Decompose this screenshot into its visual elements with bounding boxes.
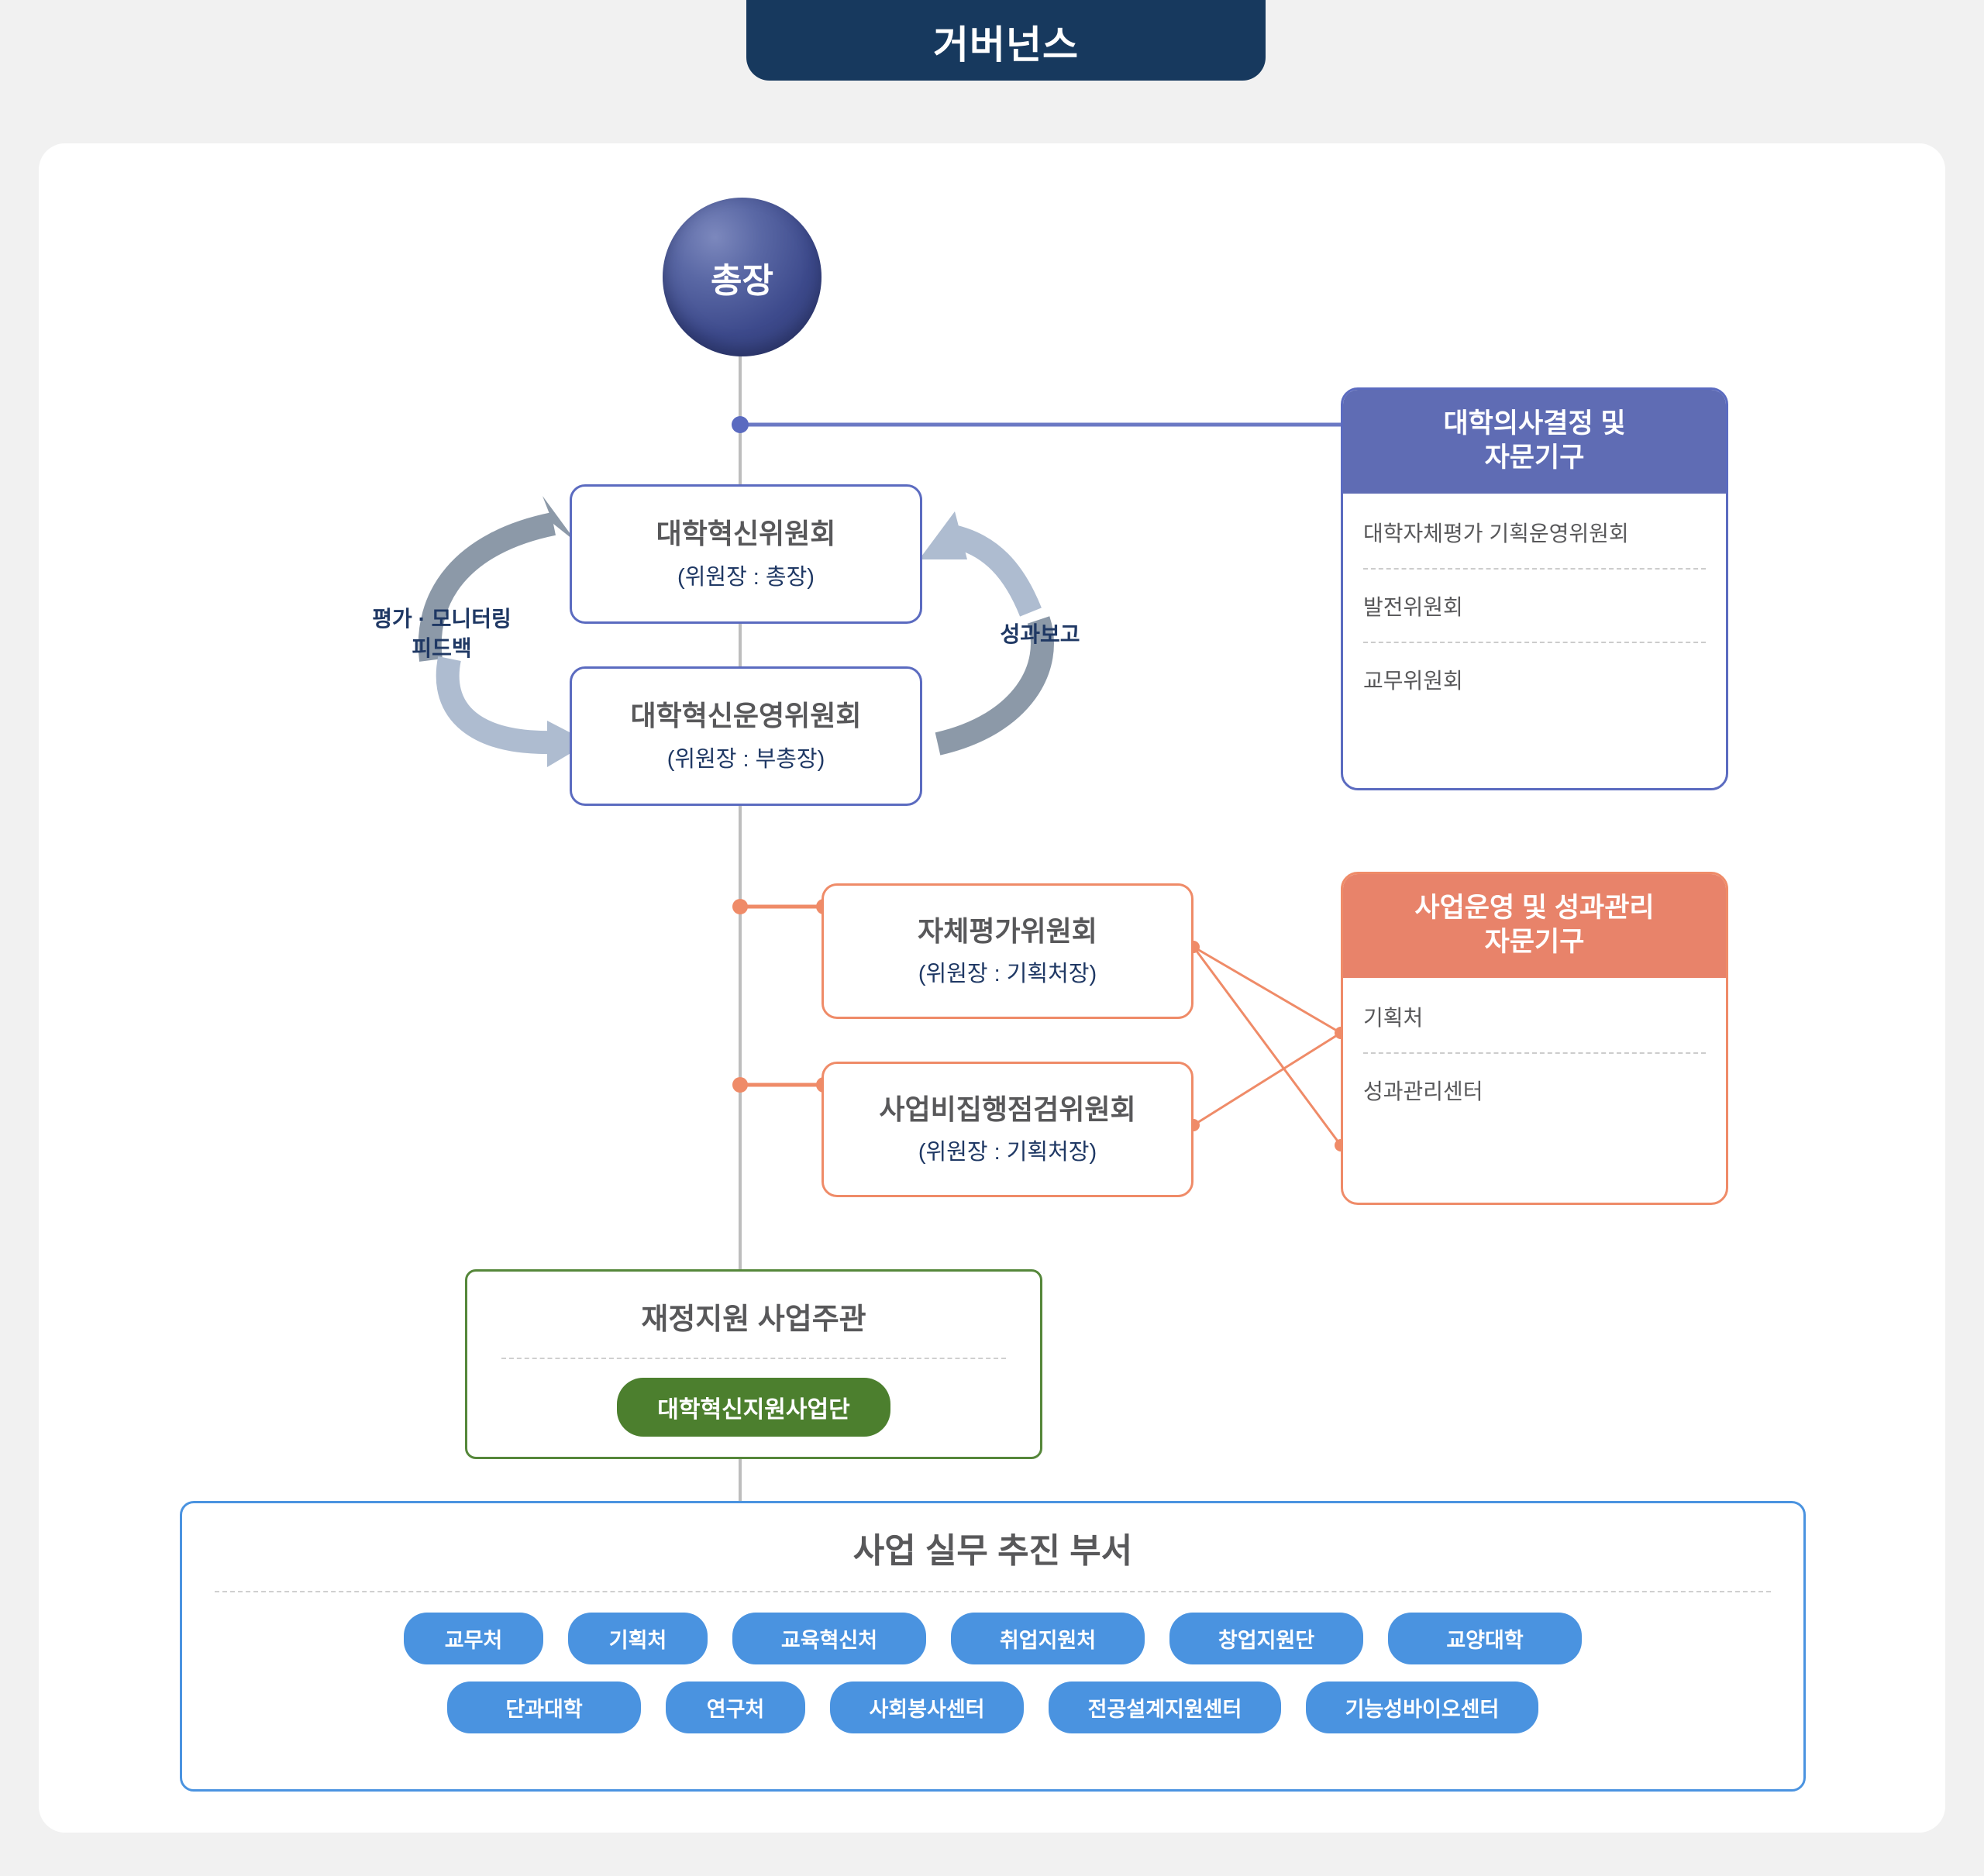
list-item[interactable]: 대학자체평가 기획운영위원회 bbox=[1363, 494, 1706, 568]
panel-header-line1: 대학의사결정 및 bbox=[1351, 407, 1718, 441]
node-title: 자체평가위원회 bbox=[918, 914, 1097, 948]
dept-pill[interactable]: 교양대학 bbox=[1388, 1613, 1582, 1664]
departments-title: 사업 실무 추진 부서 bbox=[853, 1523, 1133, 1572]
funding-title: 재정지원 사업주관 bbox=[641, 1295, 866, 1337]
panel-header: 사업운영 및 성과관리 자문기구 bbox=[1343, 874, 1726, 978]
president-node[interactable]: 총장 bbox=[663, 198, 821, 356]
dept-pill[interactable]: 기능성바이오센터 bbox=[1306, 1682, 1538, 1733]
cycle-label-feedback: 평가 · 모니터링 피드백 bbox=[353, 604, 531, 663]
departments-row-2: 단과대학 연구처 사회봉사센터 전공설계지원센터 기능성바이오센터 bbox=[182, 1682, 1803, 1733]
list-item[interactable]: 발전위원회 bbox=[1363, 568, 1706, 642]
president-label: 총장 bbox=[711, 253, 773, 302]
panel-header-line2: 자문기구 bbox=[1351, 441, 1718, 475]
node-innovation-committee[interactable]: 대학혁신위원회 (위원장 : 총장) bbox=[570, 484, 922, 624]
node-subtitle: (위원장 : 부총장) bbox=[667, 741, 825, 773]
dept-pill[interactable]: 창업지원단 bbox=[1169, 1613, 1363, 1664]
cycle-label-feedback-line1: 평가 · 모니터링 bbox=[353, 604, 531, 634]
dept-pill[interactable]: 교육혁신처 bbox=[732, 1613, 926, 1664]
dept-pill[interactable]: 기획처 bbox=[568, 1613, 708, 1664]
panel-header-line2: 자문기구 bbox=[1351, 925, 1718, 959]
page-title: 거버넌스 bbox=[933, 14, 1079, 70]
cycle-label-report: 성과보고 bbox=[978, 620, 1102, 649]
dept-pill[interactable]: 취업지원처 bbox=[951, 1613, 1145, 1664]
cycle-label-feedback-line2: 피드백 bbox=[353, 634, 531, 663]
node-subtitle: (위원장 : 총장) bbox=[677, 559, 815, 591]
list-item[interactable]: 교무위원회 bbox=[1363, 642, 1706, 715]
panel-header: 대학의사결정 및 자문기구 bbox=[1343, 390, 1726, 494]
box-funding-program: 재정지원 사업주관 대학혁신지원사업단 bbox=[465, 1269, 1042, 1459]
list-item[interactable]: 성과관리센터 bbox=[1363, 1052, 1706, 1126]
node-subtitle: (위원장 : 기획처장) bbox=[918, 1134, 1097, 1166]
node-self-evaluation-committee[interactable]: 자체평가위원회 (위원장 : 기획처장) bbox=[821, 883, 1193, 1019]
dept-pill[interactable]: 사회봉사센터 bbox=[830, 1682, 1024, 1733]
node-operation-committee[interactable]: 대학혁신운영위원회 (위원장 : 부총장) bbox=[570, 666, 922, 806]
divider bbox=[215, 1591, 1771, 1592]
node-subtitle: (위원장 : 기획처장) bbox=[918, 955, 1097, 988]
page-title-banner: 거버넌스 bbox=[746, 0, 1266, 81]
node-title: 대학혁신운영위원회 bbox=[630, 699, 861, 732]
dept-pill[interactable]: 단과대학 bbox=[447, 1682, 641, 1733]
departments-row-1: 교무처 기획처 교육혁신처 취업지원처 창업지원단 교양대학 bbox=[182, 1613, 1803, 1664]
panel-performance-advisory: 사업운영 및 성과관리 자문기구 기획처 성과관리센터 bbox=[1341, 872, 1728, 1205]
node-title: 대학혁신위원회 bbox=[656, 517, 836, 550]
node-title: 사업비집행점검위원회 bbox=[879, 1093, 1135, 1126]
panel-item-list: 대학자체평가 기획운영위원회 발전위원회 교무위원회 bbox=[1343, 494, 1726, 715]
divider bbox=[501, 1358, 1005, 1359]
panel-university-decision-advisory: 대학의사결정 및 자문기구 대학자체평가 기획운영위원회 발전위원회 교무위원회 bbox=[1341, 387, 1728, 790]
list-item[interactable]: 기획처 bbox=[1363, 978, 1706, 1052]
box-working-departments: 사업 실무 추진 부서 교무처 기획처 교육혁신처 취업지원처 창업지원단 교양… bbox=[180, 1501, 1806, 1792]
governance-diagram: 거버넌스 bbox=[0, 0, 1984, 1876]
dept-pill[interactable]: 교무처 bbox=[404, 1613, 543, 1664]
panel-header-line1: 사업운영 및 성과관리 bbox=[1351, 891, 1718, 925]
dept-pill[interactable]: 연구처 bbox=[666, 1682, 805, 1733]
dept-pill[interactable]: 전공설계지원센터 bbox=[1049, 1682, 1281, 1733]
node-budget-review-committee[interactable]: 사업비집행점검위원회 (위원장 : 기획처장) bbox=[821, 1062, 1193, 1197]
panel-item-list: 기획처 성과관리센터 bbox=[1343, 978, 1726, 1126]
funding-unit-pill[interactable]: 대학혁신지원사업단 bbox=[617, 1378, 890, 1437]
